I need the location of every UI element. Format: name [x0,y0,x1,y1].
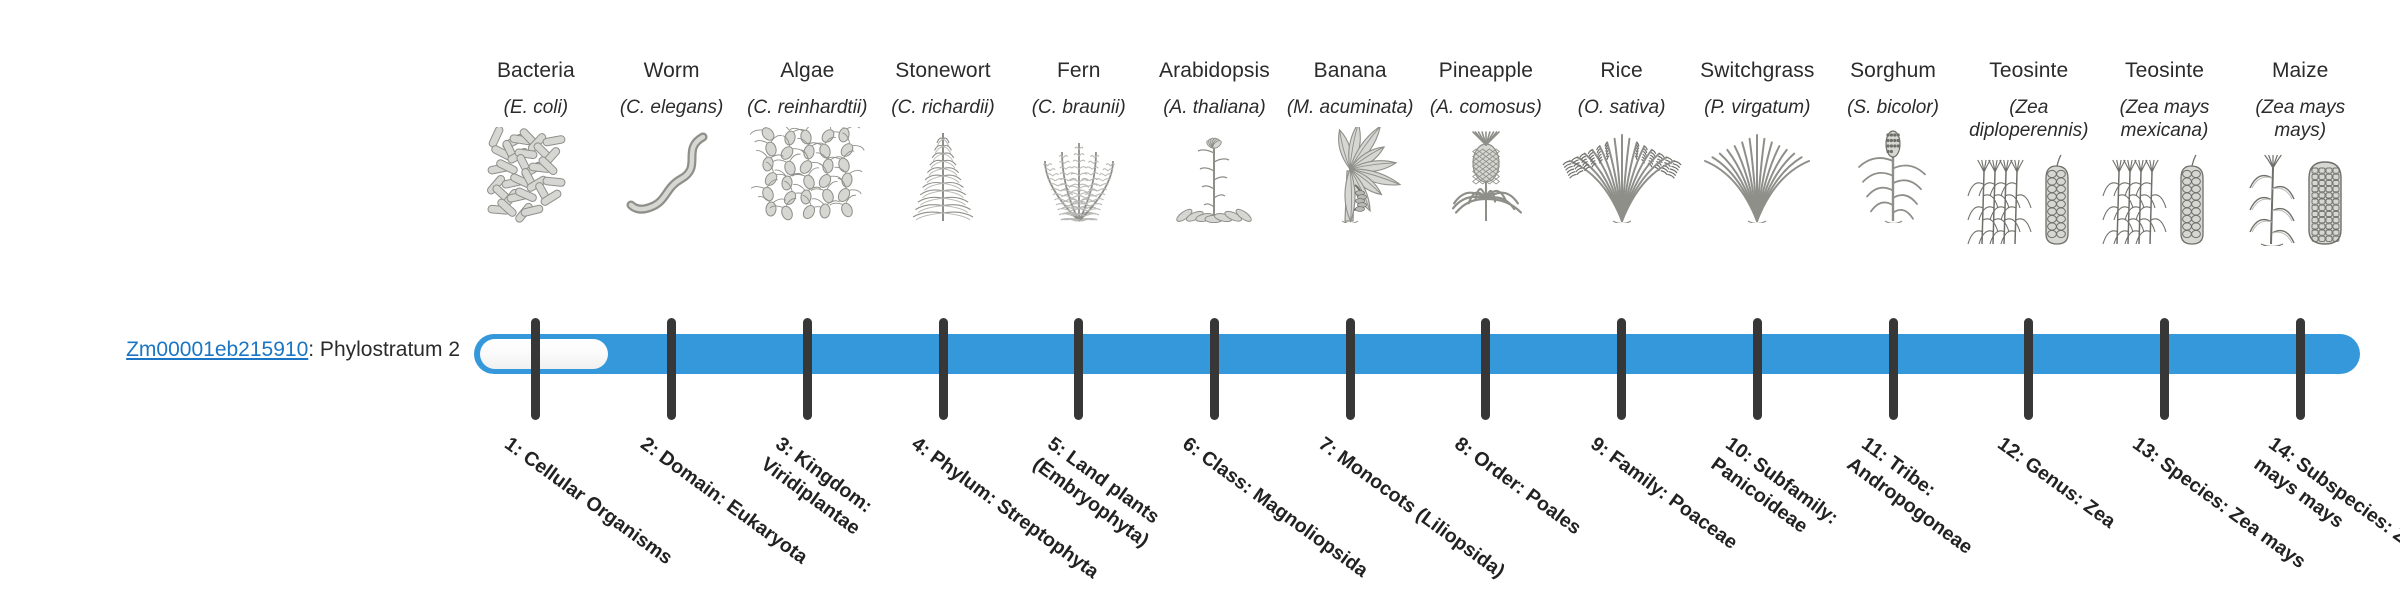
phylostratum-figure: Zm00001eb215910: Phylostratum 2 Bacteria… [0,0,2400,580]
species-column: Maize(Zea mays mays) [2232,58,2368,246]
species-column: Fern(C. braunii) [1011,58,1147,223]
phylostratum-tick[interactable] [803,318,812,420]
species-common-name: Pineapple [1439,58,1533,84]
species-column-row: Bacteria(E. coli)Worm(C. elegans) Algae(… [468,58,2368,308]
species-column: Rice(O. sativa) [1554,58,1690,223]
species-common-name: Fern [1057,58,1101,84]
phylostratum-tick[interactable] [531,318,540,420]
phylostratum-tick[interactable] [1346,318,1355,420]
phylostratum-tick[interactable] [1074,318,1083,420]
fern-frond-icon [1012,127,1146,223]
arabidopsis-plant-icon [1147,127,1281,223]
species-column: Stonewort(C. richardii) [875,58,1011,223]
phylostratum-tick[interactable] [939,318,948,420]
phylostratum-tick[interactable] [1210,318,1219,420]
species-common-name: Teosinte [1989,58,2068,84]
species-column: Banana(M. acuminata) [1282,58,1418,223]
phylostratum-tick[interactable] [2024,318,2033,420]
phylostratum-bar[interactable] [474,334,2360,374]
phylostratum-label: 14: Subspecies: Zea mays mays [2249,432,2400,608]
species-common-name: Banana [1314,58,1387,84]
species-column: Pineapple(A. comosus) [1418,58,1554,223]
species-column: Teosinte(Zea mays mexicana) [2097,58,2233,246]
phylostratum-tick[interactable] [667,318,676,420]
maize-plant-cob-icon [2233,150,2367,246]
species-latin-name: (P. virgatum) [1704,96,1810,119]
species-column: Bacteria(E. coli) [468,58,604,223]
species-common-name: Teosinte [2125,58,2204,84]
bacteria-rods-icon [469,127,603,223]
species-column: Switchgrass(P. virgatum) [1689,58,1825,223]
species-column: Arabidopsis(A. thaliana) [1147,58,1283,223]
species-common-name: Algae [780,58,834,84]
teosinte-plant-ear-icon [2097,150,2231,246]
gene-phylostratum-text: : Phylostratum 2 [308,338,460,361]
species-common-name: Arabidopsis [1159,58,1270,84]
phylostratum-tick[interactable] [1481,318,1490,420]
banana-tree-icon [1283,127,1417,223]
species-column: Teosinte(Zea diploperennis) [1961,58,2097,246]
phylostratum-tick[interactable] [1889,318,1898,420]
species-column: Worm(C. elegans) [604,58,740,223]
species-latin-name: (Zea mays mays) [2236,96,2364,142]
species-latin-name: (M. acuminata) [1287,96,1414,119]
species-latin-name: (C. elegans) [620,96,724,119]
stonewort-plant-icon [876,127,1010,223]
species-column: Sorghum(S. bicolor) [1825,58,1961,223]
algae-cells-icon [740,127,874,223]
species-latin-name: (E. coli) [504,96,568,119]
switchgrass-icon [1690,127,1824,223]
species-latin-name: (S. bicolor) [1847,96,1939,119]
species-common-name: Worm [644,58,700,84]
species-latin-name: (C. richardii) [891,96,994,119]
teosinte-plant-ear-icon [1962,150,2096,246]
phylostratum-tick[interactable] [2296,318,2305,420]
species-latin-name: (Zea diploperennis) [1965,96,2093,142]
species-latin-name: (C. reinhardtii) [747,96,867,119]
species-column: Algae(C. reinhardtii) [739,58,875,223]
species-latin-name: (A. thaliana) [1163,96,1265,119]
sorghum-plant-icon [1826,127,1960,223]
phylostratum-tick[interactable] [1617,318,1626,420]
phylostratum-tick[interactable] [1753,318,1762,420]
species-common-name: Rice [1600,58,1642,84]
pineapple-plant-icon [1419,127,1553,223]
phylostratum-tick[interactable] [2160,318,2169,420]
species-common-name: Switchgrass [1700,58,1814,84]
species-latin-name: (C. braunii) [1032,96,1126,119]
species-latin-name: (A. comosus) [1430,96,1542,119]
species-common-name: Bacteria [497,58,575,84]
gene-phylostratum-label: Zm00001eb215910: Phylostratum 2 [40,336,460,364]
gene-id-link[interactable]: Zm00001eb215910 [126,338,308,361]
nematode-worm-icon [605,127,739,223]
species-common-name: Sorghum [1850,58,1936,84]
species-latin-name: (Zea mays mexicana) [2100,96,2228,142]
phylostratum-bar-empty-segment [480,339,608,369]
species-common-name: Maize [2272,58,2329,84]
species-latin-name: (O. sativa) [1578,96,1666,119]
rice-grass-icon [1555,127,1689,223]
species-common-name: Stonewort [895,58,990,84]
